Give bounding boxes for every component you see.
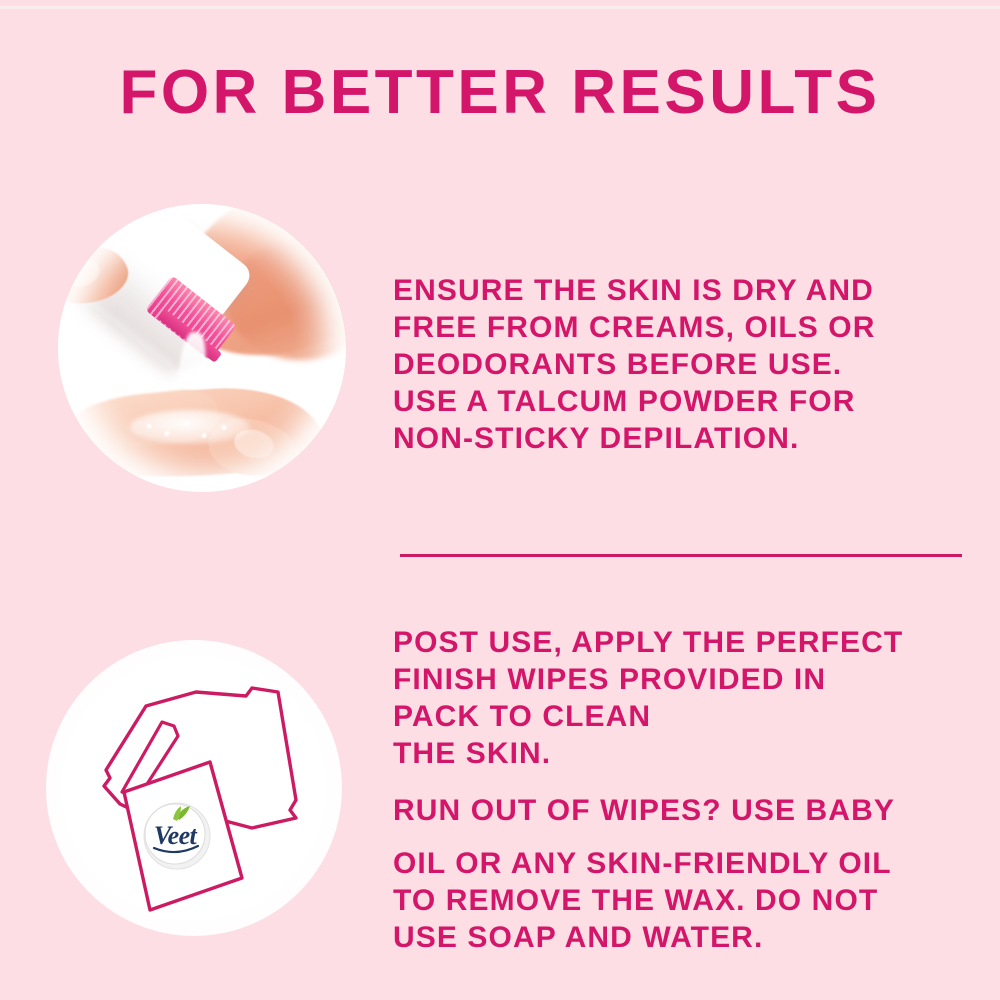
page-title: FOR BETTER RESULTS	[0, 62, 1000, 124]
section-divider	[400, 554, 962, 557]
aftercare-paragraph-2: RUN OUT OF WIPES? USE BABY	[393, 792, 983, 829]
infographic-page: FOR BETTER RESULTS ENSURE THE SKIN IS DR…	[0, 0, 1000, 1000]
veet-wordmark: Veet	[154, 821, 198, 850]
aftercare-paragraph-3: OIL OR ANY SKIN-FRIENDLY OIL TO REMOVE T…	[393, 845, 993, 956]
talcum-powder-pour-photo	[58, 204, 346, 492]
veet-logo-badge: Veet	[144, 803, 210, 869]
photo-vignette	[58, 204, 346, 492]
top-hairline	[0, 6, 1000, 9]
wipe-line-art: Veet	[46, 640, 342, 936]
preparation-paragraph: ENSURE THE SKIN IS DRY AND FREE FROM CRE…	[393, 272, 973, 457]
perfect-finish-wipes-illustration: Veet	[46, 640, 342, 936]
aftercare-paragraph-1: POST USE, APPLY THE PERFECT FINISH WIPES…	[393, 624, 983, 772]
